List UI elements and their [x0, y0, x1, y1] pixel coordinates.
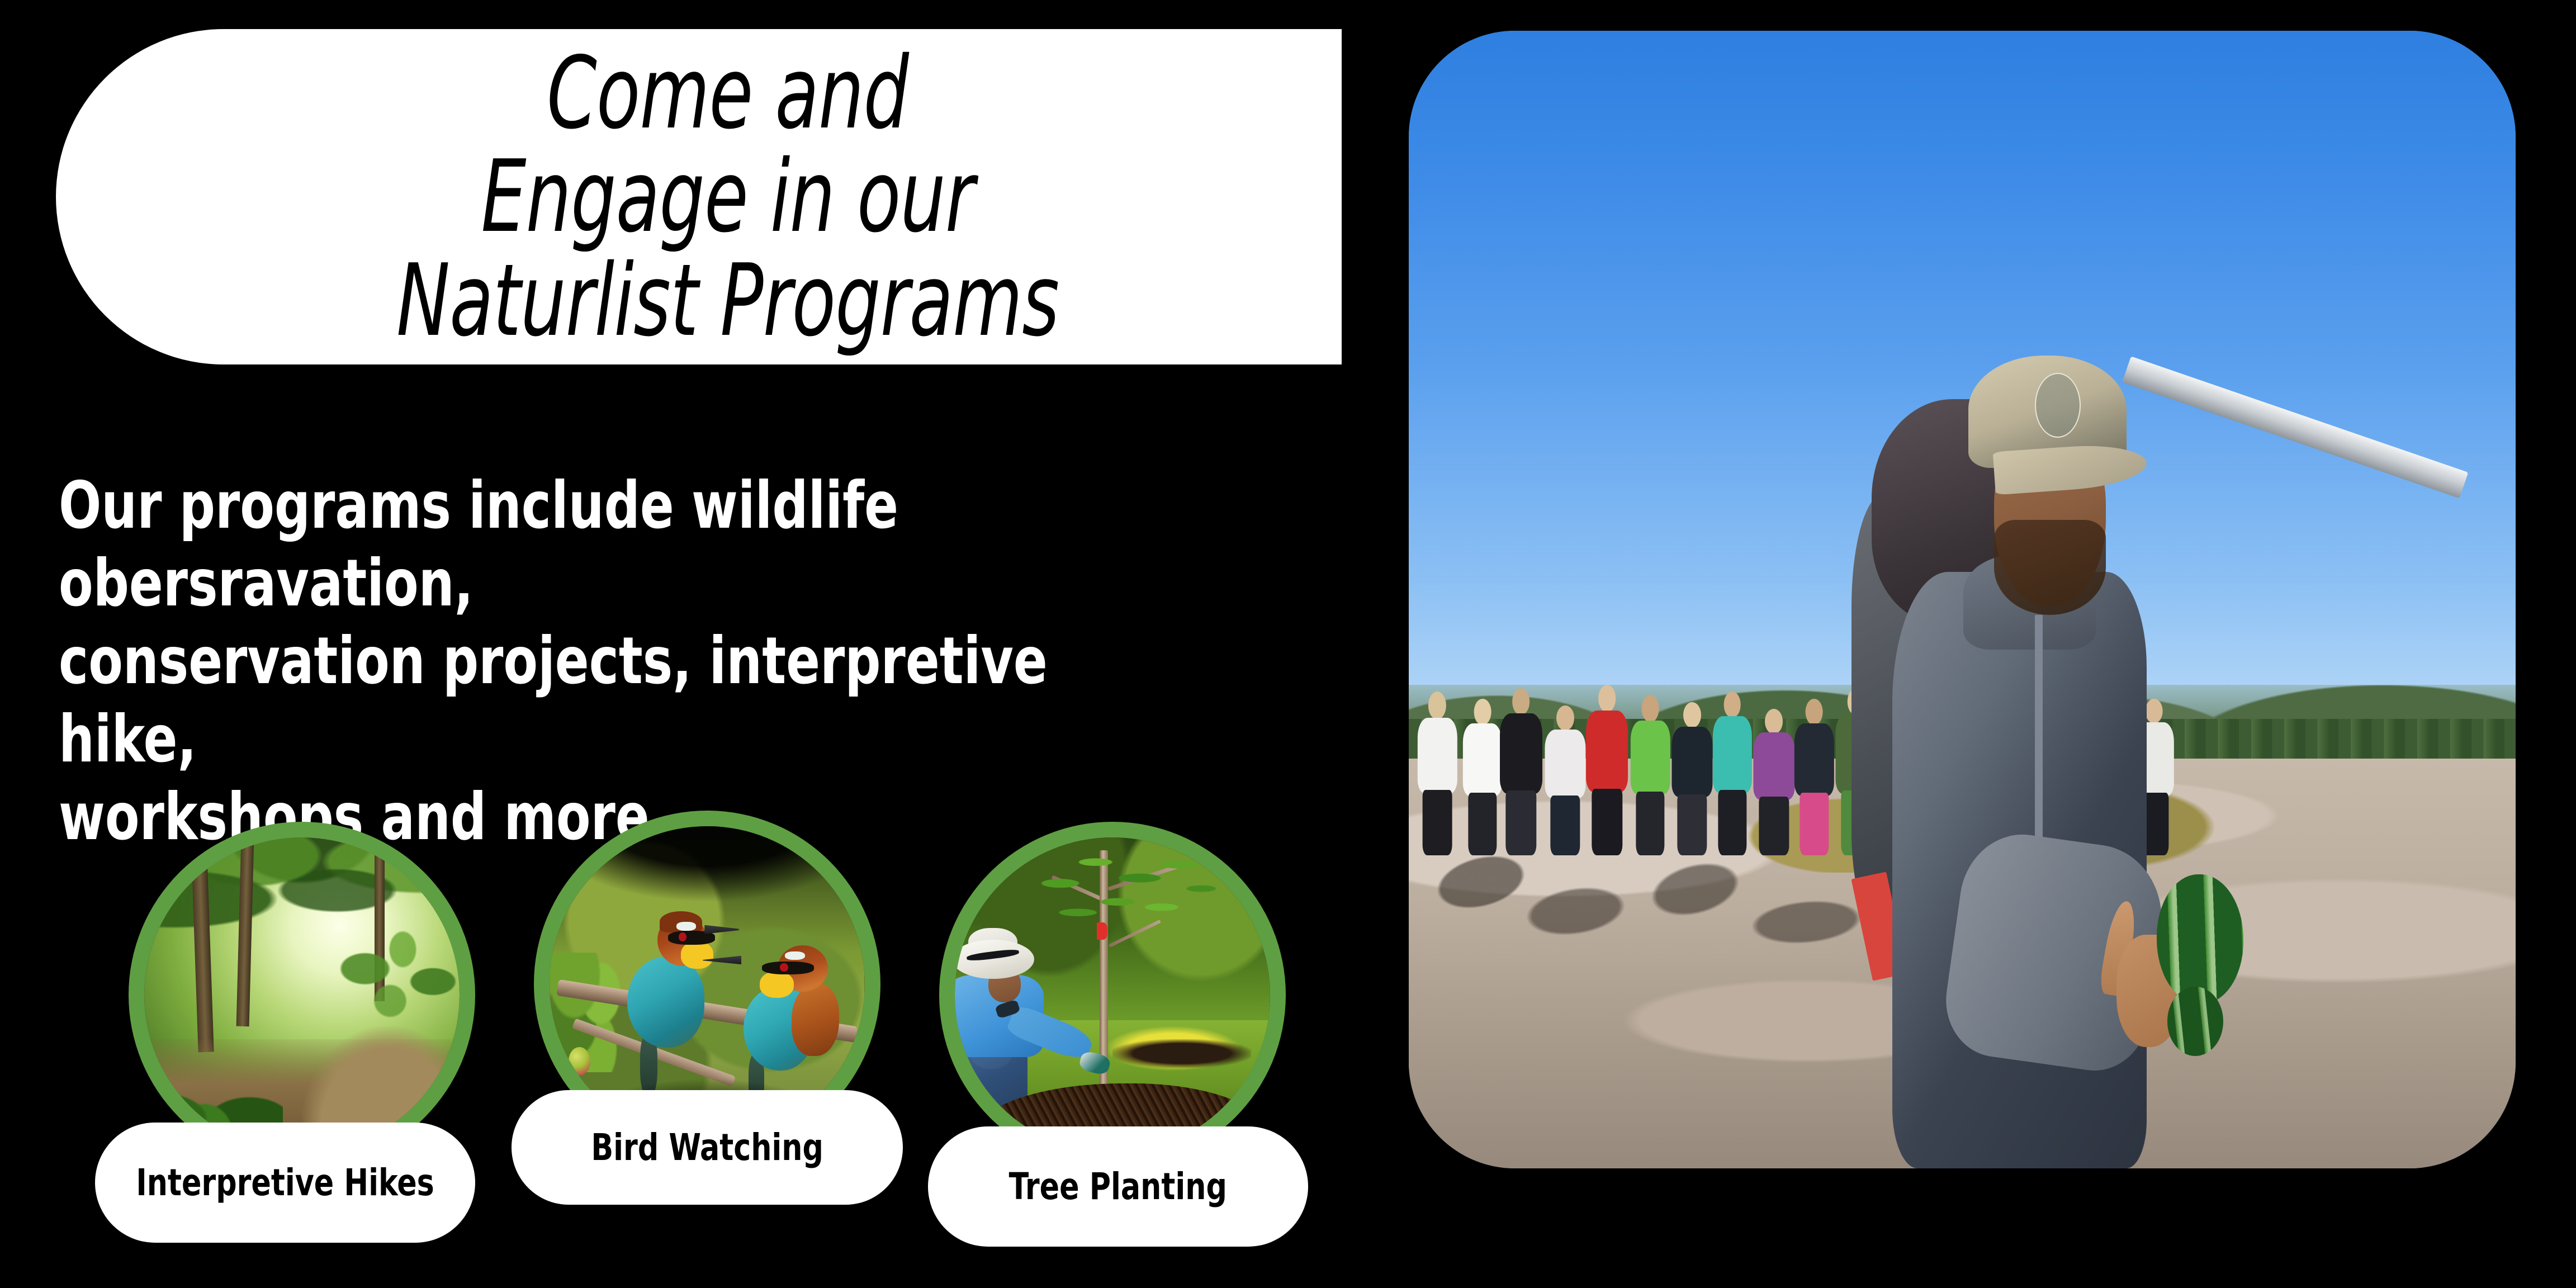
- program-label-pill[interactable]: Bird Watching: [512, 1090, 903, 1205]
- foreground-branch: [340, 926, 460, 1033]
- watermelon-large: [2157, 874, 2243, 1004]
- crowd-person: [1585, 685, 1629, 855]
- program-label: Interpretive Hikes: [136, 1161, 434, 1204]
- crowd-person: [1499, 688, 1543, 855]
- interpretive-hikes-image: [144, 837, 460, 1153]
- crowd-person: [1794, 699, 1835, 856]
- background-mulch-bed: [1112, 1039, 1251, 1068]
- crowd-person: [1462, 699, 1503, 856]
- hero-photo: [1409, 31, 2516, 1168]
- program-badge-group: Interpretive Hikes: [0, 0, 1370, 1288]
- program-label-pill[interactable]: Interpretive Hikes: [95, 1123, 475, 1243]
- poster-canvas: Come and Engage in our Naturlist Program…: [0, 0, 2576, 1288]
- beard: [1994, 520, 2106, 615]
- crowd-person: [1630, 695, 1671, 855]
- watermelon-small: [2167, 987, 2223, 1056]
- crowd-person: [1712, 692, 1753, 855]
- crowd-person: [1671, 702, 1713, 856]
- program-label: Tree Planting: [1009, 1165, 1227, 1208]
- crowd-person: [1544, 705, 1587, 856]
- foreground-man-with-watermelon: [1851, 304, 2361, 1168]
- program-label-pill[interactable]: Tree Planting: [928, 1126, 1308, 1247]
- tree-planting-image: [955, 837, 1270, 1153]
- program-label: Bird Watching: [591, 1126, 823, 1169]
- crowd-person: [1417, 692, 1458, 855]
- crowd-person: [1753, 709, 1795, 856]
- cap-logo-icon: [2035, 373, 2081, 438]
